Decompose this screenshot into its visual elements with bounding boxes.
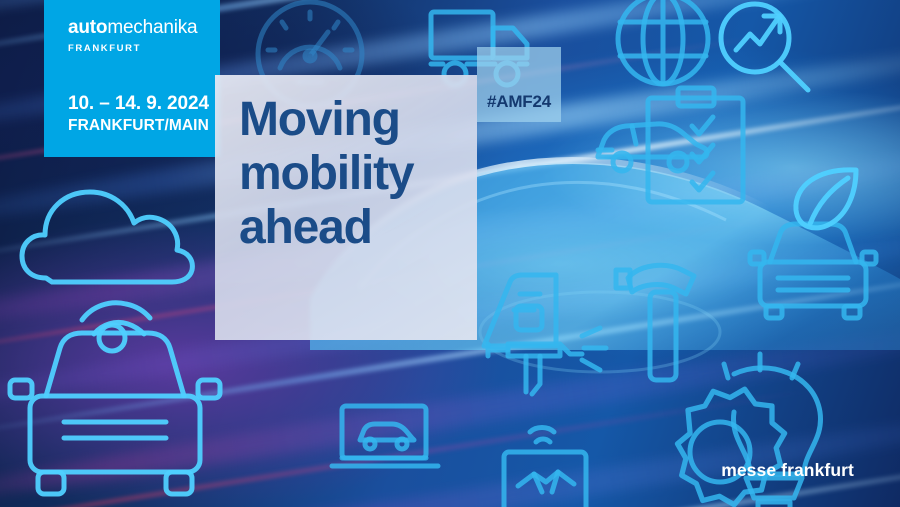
automechanika-wordmark: automechanika <box>68 18 220 37</box>
logo-word-auto: auto <box>68 17 107 38</box>
hashtag-label: #AMF24 <box>477 92 561 112</box>
headline-line-3: ahead <box>239 201 479 255</box>
messe-frankfurt-logo: messe frankfurt <box>721 460 854 481</box>
headline-line-1: Moving <box>239 93 479 147</box>
event-dates: 10. – 14. 9. 2024 <box>68 93 209 115</box>
logo-city-label: FRANKFURT <box>68 43 220 54</box>
automechanika-banner: automechanika FRANKFURT 10. – 14. 9. 202… <box>0 0 900 507</box>
gear-lightbulb-icon <box>658 348 873 507</box>
automechanika-logo-box: automechanika FRANKFURT 10. – 14. 9. 202… <box>44 0 220 157</box>
headline-panel: Moving mobility ahead <box>215 75 477 340</box>
laptop-car-icon <box>330 400 440 480</box>
hashtag-badge: #AMF24 <box>477 47 561 122</box>
spray-gun-icon <box>478 300 608 430</box>
handshake-icon <box>490 430 600 507</box>
headline-line-2: mobility <box>239 147 479 201</box>
connected-car-icon <box>8 318 228 507</box>
cloud-icon <box>12 170 202 295</box>
car-side-icon <box>592 110 712 180</box>
leaf-icon <box>786 162 866 237</box>
logo-word-mechanika: mechanika <box>107 17 197 38</box>
event-location: FRANKFURT/MAIN <box>68 117 209 135</box>
page-title: Moving mobility ahead <box>239 93 479 256</box>
globe-icon <box>608 0 718 94</box>
